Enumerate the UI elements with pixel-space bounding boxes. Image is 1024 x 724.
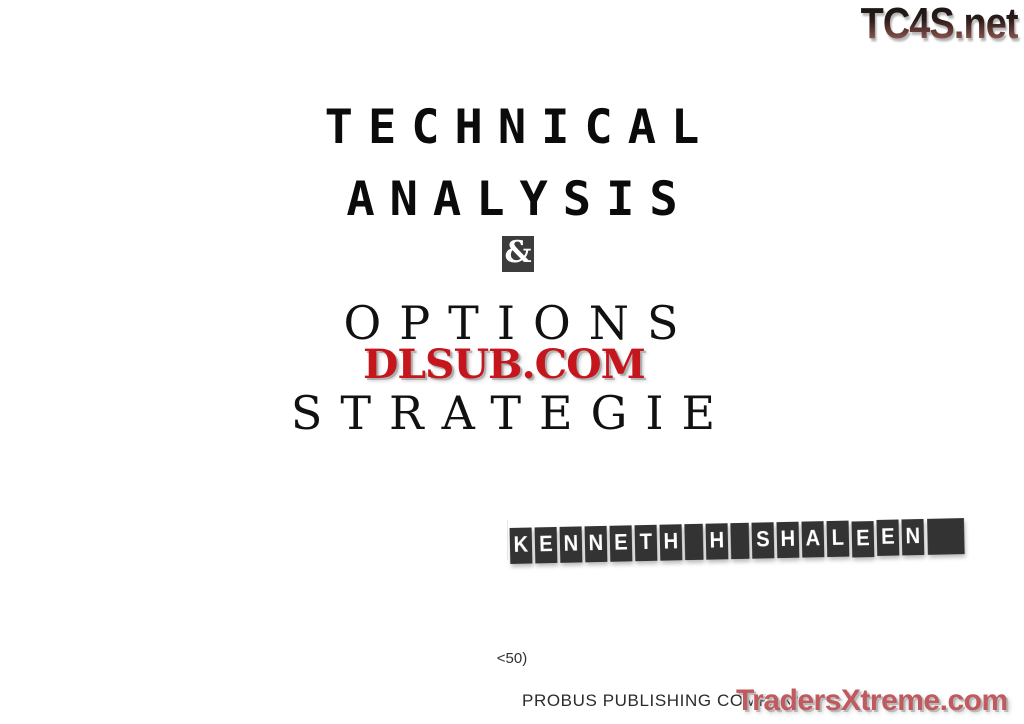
author-tile-blank (927, 518, 965, 555)
author-tile: E (535, 527, 558, 563)
author-tile: H (706, 523, 729, 559)
author-tile: H (660, 524, 683, 560)
ampersand-container: & (0, 236, 1024, 272)
author-tile: E (851, 521, 874, 557)
author-tile: S (751, 522, 774, 558)
tradersxtreme-watermark: TradersXtreme.com (736, 684, 1008, 718)
author-tile: E (610, 525, 633, 561)
author-tile: E (876, 519, 899, 555)
book-title-line-2: ANALYSIS (0, 172, 1024, 227)
author-tile: K (510, 528, 533, 564)
author-tile-space (730, 523, 749, 559)
author-tile: H (776, 522, 799, 558)
book-cover-page: TC4S.net TECHNICAL ANALYSIS & OPTIONS ST… (0, 0, 1024, 724)
author-tile: N (560, 526, 583, 562)
scan-edge-line (507, 520, 508, 560)
tc4s-watermark: TC4S.net (861, 2, 1018, 46)
book-title-line-4: STRATEGIE (0, 386, 1024, 440)
dlsub-watermark: DLSUB.COM (363, 341, 645, 388)
ampersand-badge: & (502, 236, 534, 272)
author-tile: A (801, 521, 824, 557)
author-tile-space (684, 524, 703, 560)
book-title-line-4-text: STRATEGIE (273, 386, 733, 440)
author-tile: L (826, 521, 849, 557)
book-title-line-1: TECHNICAL (0, 100, 1024, 155)
scan-artifact-mark: <50) (0, 650, 1024, 667)
author-tile: T (635, 525, 658, 561)
author-tile: N (901, 519, 924, 555)
author-tile: N (585, 526, 608, 562)
author-name-strip: K E N N E T H H S H A L E E N (509, 518, 968, 565)
